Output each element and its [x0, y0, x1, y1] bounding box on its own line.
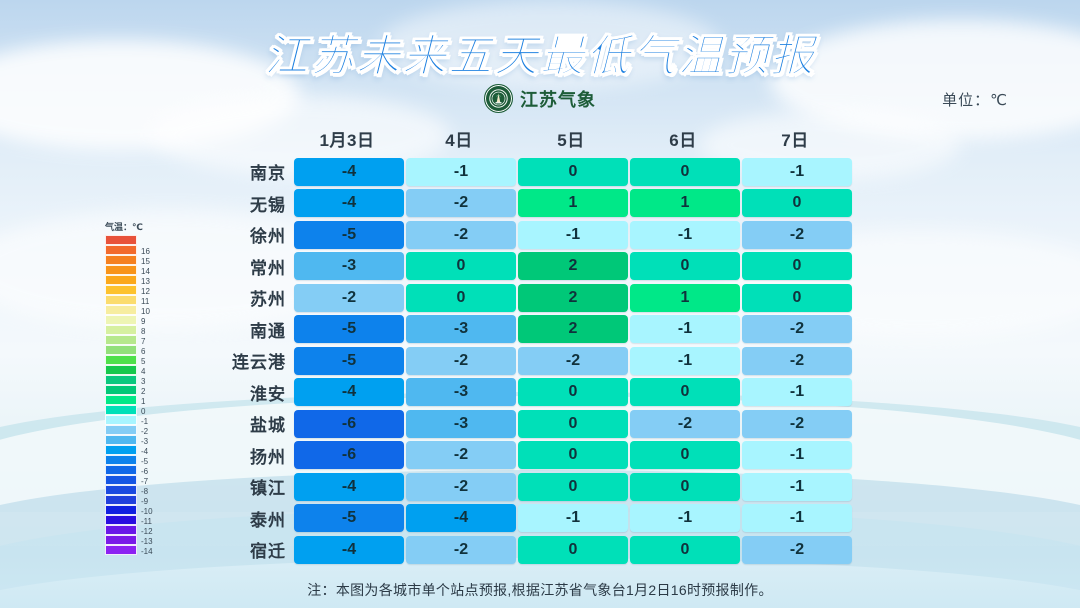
table-row: 常州-30200: [190, 251, 854, 283]
legend-stop: -8: [105, 485, 137, 495]
legend-tick-label: 16: [141, 248, 150, 256]
legend-stop: -13: [105, 535, 137, 545]
legend-swatch: [105, 245, 137, 255]
legend-tick-label: 15: [141, 258, 150, 266]
temperature-cell: 2: [518, 315, 628, 343]
legend-tick-label: -1: [141, 418, 148, 426]
legend-swatch: [105, 385, 137, 395]
table-row: 徐州-5-2-1-1-2: [190, 219, 854, 251]
temperature-cell: 0: [518, 158, 628, 186]
legend-tick-label: 5: [141, 358, 145, 366]
legend-swatch: [105, 525, 137, 535]
legend-swatch: [105, 425, 137, 435]
temperature-cell: 0: [630, 536, 740, 564]
temperature-cell: -4: [406, 504, 516, 532]
legend-swatch: [105, 265, 137, 275]
temperature-cell: 0: [742, 284, 852, 312]
footnote: 注：本图为各城市单个站点预报,根据江苏省气象台1月2日16时预报制作。: [0, 580, 1080, 600]
legend-stop: 10: [105, 305, 137, 315]
legend-swatch: [105, 495, 137, 505]
temperature-cell: 1: [518, 189, 628, 217]
jiangsu-meteorology-badge-icon: [484, 84, 513, 113]
temperature-cell: -1: [630, 315, 740, 343]
temperature-cell: -2: [742, 221, 852, 249]
temperature-cell: 0: [518, 378, 628, 406]
temperature-cell: -2: [742, 315, 852, 343]
legend-swatch: [105, 405, 137, 415]
page-title: 江苏未来五天最低气温预报: [0, 20, 1080, 84]
legend-swatch: [105, 505, 137, 515]
city-label: 镇江: [190, 474, 294, 499]
legend-stop: -1: [105, 415, 137, 425]
legend-swatch: [105, 305, 137, 315]
temperature-cell: 2: [518, 284, 628, 312]
legend-swatch: [105, 445, 137, 455]
table-column-headers: 1月3日4日5日6日7日: [292, 126, 854, 151]
city-label: 苏州: [190, 285, 294, 310]
temperature-cell: -1: [742, 504, 852, 532]
legend-tick-label: 0: [141, 408, 145, 416]
table-row: 盐城-6-30-2-2: [190, 408, 854, 440]
legend-stop: -7: [105, 475, 137, 485]
temperature-cell: 0: [630, 158, 740, 186]
legend-stop: 7: [105, 335, 137, 345]
legend-stop: 16: [105, 245, 137, 255]
legend-swatch: [105, 435, 137, 445]
temperature-cell: -5: [294, 504, 404, 532]
legend-stop: 11: [105, 295, 137, 305]
legend-stop: 13: [105, 275, 137, 285]
table-row: 南京-4-100-1: [190, 156, 854, 188]
city-label: 盐城: [190, 411, 294, 436]
temperature-cell: -3: [406, 410, 516, 438]
temperature-cell: -2: [406, 347, 516, 375]
temperature-cell: -4: [294, 536, 404, 564]
temperature-cell: -1: [742, 441, 852, 469]
unit-label: 单位：℃: [942, 89, 1008, 110]
temperature-cell: -1: [518, 221, 628, 249]
temperature-cell: -4: [294, 473, 404, 501]
city-label: 泰州: [190, 506, 294, 531]
brand-logo: 江苏气象: [0, 84, 1080, 113]
legend-stop: -11: [105, 515, 137, 525]
legend-swatch: [105, 335, 137, 345]
temperature-cell: -2: [406, 189, 516, 217]
legend-swatch: [105, 535, 137, 545]
legend-tick-label: 14: [141, 268, 150, 276]
temperature-cell: 0: [742, 189, 852, 217]
city-label: 连云港: [190, 348, 294, 373]
legend-swatch: [105, 395, 137, 405]
city-label: 淮安: [190, 380, 294, 405]
legend-stop: 12: [105, 285, 137, 295]
temperature-cell: -1: [630, 221, 740, 249]
legend-tick-label: -14: [141, 548, 153, 556]
temperature-legend: 气温：℃ 161514131211109876543210-1-2-3-4-5-…: [105, 220, 169, 555]
table-body: 南京-4-100-1无锡-4-2110徐州-5-2-1-1-2常州-30200苏…: [190, 156, 854, 566]
temperature-cell: -1: [742, 378, 852, 406]
legend-swatch: [105, 345, 137, 355]
temperature-cell: 2: [518, 252, 628, 280]
table-row: 泰州-5-4-1-1-1: [190, 503, 854, 535]
legend-stop: [105, 235, 137, 245]
legend-tick-label: -13: [141, 538, 153, 546]
temperature-cell: -4: [294, 158, 404, 186]
table-row: 无锡-4-2110: [190, 188, 854, 220]
temperature-cell: 0: [406, 252, 516, 280]
temperature-cell: -2: [406, 441, 516, 469]
temperature-cell: -1: [742, 473, 852, 501]
table-row: 宿迁-4-200-2: [190, 534, 854, 566]
legend-stop: -2: [105, 425, 137, 435]
legend-tick-label: -2: [141, 428, 148, 436]
brand-name: 江苏气象: [520, 86, 596, 112]
legend-stop: -10: [105, 505, 137, 515]
legend-swatch: [105, 455, 137, 465]
legend-swatch: [105, 485, 137, 495]
city-label: 南京: [190, 159, 294, 184]
legend-swatch: [105, 375, 137, 385]
legend-stop: 9: [105, 315, 137, 325]
temperature-cell: 0: [630, 441, 740, 469]
table-row: 南通-5-32-1-2: [190, 314, 854, 346]
legend-tick-label: 10: [141, 308, 150, 316]
legend-swatch: [105, 415, 137, 425]
legend-swatch: [105, 285, 137, 295]
column-header-day-4: 6日: [628, 126, 738, 151]
legend-stop: 14: [105, 265, 137, 275]
legend-tick-label: 2: [141, 388, 145, 396]
legend-stop: 8: [105, 325, 137, 335]
temperature-cell: 1: [630, 189, 740, 217]
temperature-cell: 0: [742, 252, 852, 280]
temperature-cell: -4: [294, 378, 404, 406]
legend-tick-label: 3: [141, 378, 145, 386]
legend-swatch: [105, 275, 137, 285]
temperature-cell: -6: [294, 410, 404, 438]
temperature-cell: -1: [406, 158, 516, 186]
temperature-cell: -1: [630, 347, 740, 375]
legend-tick-label: 7: [141, 338, 145, 346]
city-label: 无锡: [190, 191, 294, 216]
legend-tick-label: -6: [141, 468, 148, 476]
legend-stop: 5: [105, 355, 137, 365]
column-header-day-5: 7日: [740, 126, 850, 151]
city-label: 徐州: [190, 222, 294, 247]
column-header-day-2: 4日: [404, 126, 514, 151]
legend-stop: 1: [105, 395, 137, 405]
legend-tick-label: 4: [141, 368, 145, 376]
legend-tick-label: 9: [141, 318, 145, 326]
temperature-cell: 0: [518, 441, 628, 469]
legend-tick-label: -11: [141, 518, 152, 526]
temperature-cell: -6: [294, 441, 404, 469]
legend-stop: -4: [105, 445, 137, 455]
legend-tick-label: 1: [141, 398, 145, 406]
city-label: 南通: [190, 317, 294, 342]
legend-stop: -9: [105, 495, 137, 505]
legend-stop: -5: [105, 455, 137, 465]
legend-color-bar: 161514131211109876543210-1-2-3-4-5-6-7-8…: [105, 235, 137, 555]
temperature-cell: 0: [518, 536, 628, 564]
legend-swatch: [105, 295, 137, 305]
temperature-cell: 1: [630, 284, 740, 312]
table-row: 连云港-5-2-2-1-2: [190, 345, 854, 377]
temperature-cell: -3: [294, 252, 404, 280]
legend-stop: -14: [105, 545, 137, 555]
temperature-cell: 0: [630, 473, 740, 501]
table-row: 扬州-6-200-1: [190, 440, 854, 472]
legend-tick-label: -8: [141, 488, 148, 496]
temperature-cell: -1: [742, 158, 852, 186]
legend-swatch: [105, 235, 137, 245]
forecast-table: 1月3日4日5日6日7日 南京-4-100-1无锡-4-2110徐州-5-2-1…: [190, 126, 854, 566]
temperature-cell: 0: [518, 473, 628, 501]
legend-stop: 6: [105, 345, 137, 355]
temperature-cell: 0: [518, 410, 628, 438]
temperature-cell: -5: [294, 347, 404, 375]
legend-swatch: [105, 475, 137, 485]
legend-swatch: [105, 255, 137, 265]
temperature-cell: -2: [630, 410, 740, 438]
legend-title: 气温：℃: [105, 220, 169, 233]
legend-stop: -12: [105, 525, 137, 535]
column-header-day-3: 5日: [516, 126, 626, 151]
legend-tick-label: 13: [141, 278, 150, 286]
temperature-cell: -2: [742, 410, 852, 438]
temperature-cell: -2: [742, 347, 852, 375]
column-header-day-1: 1月3日: [292, 126, 402, 151]
temperature-cell: -1: [518, 504, 628, 532]
legend-tick-label: -10: [141, 508, 153, 516]
legend-stop: 15: [105, 255, 137, 265]
legend-stop: -3: [105, 435, 137, 445]
legend-tick-label: -9: [141, 498, 148, 506]
legend-swatch: [105, 315, 137, 325]
legend-stop: -6: [105, 465, 137, 475]
legend-tick-label: 12: [141, 288, 150, 296]
legend-tick-label: -5: [141, 458, 148, 466]
table-row: 淮安-4-300-1: [190, 377, 854, 409]
table-row: 苏州-20210: [190, 282, 854, 314]
temperature-cell: -5: [294, 221, 404, 249]
temperature-cell: -5: [294, 315, 404, 343]
temperature-cell: -2: [742, 536, 852, 564]
legend-tick-label: 11: [141, 298, 149, 306]
temperature-cell: -2: [518, 347, 628, 375]
temperature-cell: -2: [406, 221, 516, 249]
legend-tick-label: -12: [141, 528, 153, 536]
legend-tick-label: 6: [141, 348, 145, 356]
city-label: 扬州: [190, 443, 294, 468]
legend-tick-label: -4: [141, 448, 148, 456]
temperature-cell: -2: [406, 473, 516, 501]
legend-swatch: [105, 325, 137, 335]
table-row: 镇江-4-200-1: [190, 471, 854, 503]
legend-stop: 2: [105, 385, 137, 395]
temperature-cell: -4: [294, 189, 404, 217]
legend-swatch: [105, 465, 137, 475]
legend-stop: 0: [105, 405, 137, 415]
temperature-cell: 0: [630, 378, 740, 406]
legend-tick-label: -7: [141, 478, 148, 486]
temperature-cell: -1: [630, 504, 740, 532]
legend-tick-label: -3: [141, 438, 148, 446]
legend-swatch: [105, 545, 137, 555]
legend-tick-label: 8: [141, 328, 145, 336]
temperature-cell: -2: [406, 536, 516, 564]
legend-swatch: [105, 365, 137, 375]
legend-stop: 3: [105, 375, 137, 385]
temperature-cell: -2: [294, 284, 404, 312]
temperature-cell: 0: [406, 284, 516, 312]
city-label: 常州: [190, 254, 294, 279]
legend-swatch: [105, 355, 137, 365]
temperature-cell: -3: [406, 315, 516, 343]
temperature-cell: -3: [406, 378, 516, 406]
legend-swatch: [105, 515, 137, 525]
legend-stop: 4: [105, 365, 137, 375]
city-label: 宿迁: [190, 537, 294, 562]
temperature-cell: 0: [630, 252, 740, 280]
